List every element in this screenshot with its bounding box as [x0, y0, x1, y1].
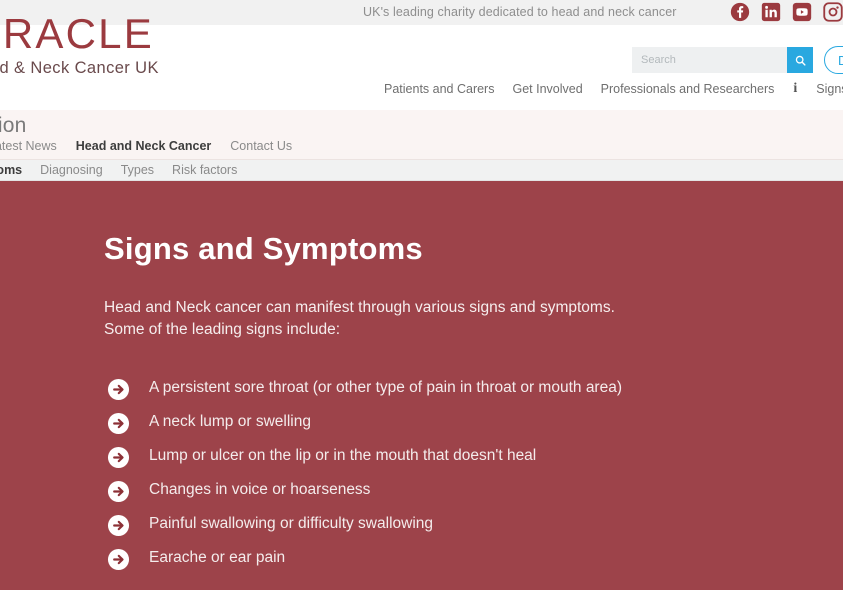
linkedin-icon[interactable]: [761, 2, 781, 22]
site-logo[interactable]: ORACLE Head & Neck Cancer UK: [0, 13, 159, 78]
instagram-icon[interactable]: [823, 2, 843, 22]
info-icon[interactable]: i: [792, 81, 798, 97]
youtube-icon[interactable]: [792, 2, 812, 22]
list-item-label: Painful swallowing or difficulty swallow…: [149, 513, 433, 535]
arrow-circle-icon: [107, 513, 130, 537]
list-item: Earache or ear pain: [107, 547, 707, 571]
list-item: Changes in voice or hoarseness: [107, 479, 707, 503]
nav-item-signs-and-symptoms[interactable]: Signs & S: [816, 82, 843, 96]
social-links: [730, 2, 843, 22]
facebook-icon[interactable]: [730, 2, 750, 22]
arrow-circle-icon: [107, 445, 130, 469]
logo-wordmark: ORACLE: [0, 13, 159, 55]
arrow-circle-icon: [107, 411, 130, 435]
subnav-item-latest-news[interactable]: Latest News: [0, 139, 57, 153]
logo-tagline: Head & Neck Cancer UK: [0, 59, 159, 78]
page-title: Signs and Symptoms: [104, 231, 423, 267]
list-item-label: Earache or ear pain: [149, 547, 285, 569]
nav-item-patients-and-carers[interactable]: Patients and Carers: [384, 82, 494, 96]
subnav-item-contact-us[interactable]: Contact Us: [230, 139, 292, 153]
main-navigation: Patients and Carers Get Involved Profess…: [384, 81, 843, 97]
symptom-list: A persistent sore throat (or other type …: [107, 377, 707, 581]
tab-types[interactable]: Types: [121, 163, 154, 181]
nav-item-professionals-and-researchers[interactable]: Professionals and Researchers: [601, 82, 775, 96]
section-navigation: Latest News Head and Neck Cancer Contact…: [0, 139, 292, 153]
search-form: [632, 47, 813, 73]
list-item-label: A persistent sore throat (or other type …: [149, 377, 622, 399]
list-item: Lump or ulcer on the lip or in the mouth…: [107, 445, 707, 469]
arrow-circle-icon: [107, 547, 130, 571]
list-item: A neck lump or swelling: [107, 411, 707, 435]
arrow-circle-icon: [107, 377, 130, 401]
search-button[interactable]: [787, 47, 813, 73]
section-heading: ation: [0, 114, 27, 138]
arrow-circle-icon: [107, 479, 130, 503]
list-item-label: A neck lump or swelling: [149, 411, 311, 433]
list-item: A persistent sore throat (or other type …: [107, 377, 707, 401]
nav-item-get-involved[interactable]: Get Involved: [512, 82, 582, 96]
site-tagline: UK's leading charity dedicated to head a…: [363, 5, 677, 19]
list-item: Painful swallowing or difficulty swallow…: [107, 513, 707, 537]
tab-risk-factors[interactable]: Risk factors: [172, 163, 237, 181]
list-item-label: Lump or ulcer on the lip or in the mouth…: [149, 445, 536, 467]
search-input[interactable]: [632, 47, 787, 73]
page-root: UK's leading charity dedicated to head a…: [0, 0, 843, 590]
tab-diagnosing[interactable]: Diagnosing: [40, 163, 103, 181]
hero-intro-text: Head and Neck cancer can manifest throug…: [104, 297, 649, 341]
list-item-label: Changes in voice or hoarseness: [149, 479, 370, 501]
search-icon: [794, 54, 807, 67]
subnav-item-head-and-neck-cancer[interactable]: Head and Neck Cancer: [76, 139, 211, 153]
